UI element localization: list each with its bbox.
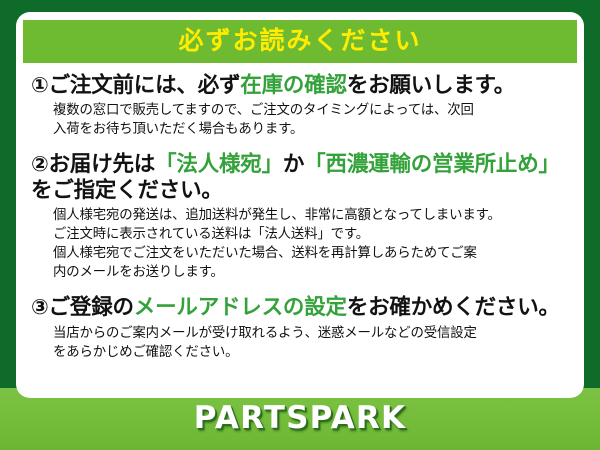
- notice-item-1-heading: ①ご注文前には、必ず在庫の確認をお願いします。: [22, 73, 578, 98]
- page-title: 必ずお読みください: [178, 28, 421, 55]
- notice-item-1-heading-part-1: ご注文前には、必ず: [49, 73, 241, 98]
- notice-item-2-body-line-1: 個人様宅宛の発送は、追加送料が発生し、非常に高額となってしまいます。: [53, 206, 578, 225]
- notice-item-1-body-line-1: 複数の窓口で販売してますので、ご注文のタイミングによっては、次回: [53, 101, 578, 120]
- notice-item-3-heading-part-1: ご登録の: [49, 295, 134, 320]
- notice-item-2-body: 個人様宅宛の発送は、追加送料が発生し、非常に高額となってしまいます。 ご注文時に…: [22, 206, 578, 282]
- title-banner: 必ずお読みください: [23, 20, 577, 63]
- notice-item-3-body: 当店からのご案内メールが受け取れるよう、迷惑メールなどの受信設定 をあらかじめご…: [22, 324, 578, 362]
- notice-item-2-heading-highlight-1: 「法人様宛」: [155, 152, 283, 177]
- notice-item-2-heading-highlight-2: 「西濃運輸の営業所止め」: [304, 152, 560, 177]
- notice-item-3-heading-part-3: をお確かめください。: [347, 295, 560, 320]
- notice-item-3-marker: ③: [31, 295, 49, 319]
- notice-item-3-body-line-2: をあらかじめご確認ください。: [53, 343, 578, 362]
- notice-item-2-heading-part-3: か: [283, 152, 304, 177]
- notice-item-1-heading-highlight: 在庫の確認: [240, 73, 347, 98]
- notice-item-3-body-line-1: 当店からのご案内メールが受け取れるよう、迷惑メールなどの受信設定: [53, 324, 578, 343]
- notice-item-1-body-line-2: 入荷をお待ち頂いただく場合もあります。: [53, 120, 578, 139]
- notice-item-1-marker: ①: [31, 73, 49, 97]
- notice-frame: PARTSPARK 必ずお読みください ①ご注文前には、必ず在庫の確認をお願いし…: [0, 0, 600, 450]
- notice-item-2-heading: ②お届け先は「法人様宛」か「西濃運輸の営業所止め」: [22, 152, 578, 177]
- notice-item-1-body: 複数の窓口で販売してますので、ご注文のタイミングによっては、次回 入荷をお待ち頂…: [22, 101, 578, 139]
- notice-item-2-body-line-4: 内のメールをお送りします。: [53, 263, 578, 282]
- brand-logo: PARTSPARK: [194, 400, 406, 438]
- notice-item-2-body-line-2: ご注文時に表示されている送料は「法人送料」です。: [53, 225, 578, 244]
- notice-item-1-heading-part-3: をお願いします。: [347, 73, 515, 98]
- notice-item-3-heading: ③ご登録のメールアドレスの設定をお確かめください。: [22, 295, 578, 320]
- notice-item-2-body-line-3: 個人様宅宛でご注文をいただいた場合、送料を再計算しあらためてご案: [53, 244, 578, 263]
- notice-item-3: ③ご登録のメールアドレスの設定をお確かめください。 当店からのご案内メールが受け…: [22, 295, 578, 361]
- notice-item-2: ②お届け先は「法人様宛」か「西濃運輸の営業所止め」 をご指定ください。 個人様宅…: [22, 152, 578, 282]
- notice-item-2-heading-part-1: お届け先は: [49, 152, 156, 177]
- notice-panel: 必ずお読みください ①ご注文前には、必ず在庫の確認をお願いします。 複数の窓口で…: [16, 12, 584, 398]
- notice-item-list: ①ご注文前には、必ず在庫の確認をお願いします。 複数の窓口で販売してますので、ご…: [22, 73, 578, 362]
- notice-item-3-heading-highlight: メールアドレスの設定: [134, 295, 347, 320]
- notice-item-2-heading-line-2: をご指定ください。: [22, 178, 578, 203]
- notice-item-2-marker: ②: [31, 152, 49, 176]
- notice-item-1: ①ご注文前には、必ず在庫の確認をお願いします。 複数の窓口で販売してますので、ご…: [22, 73, 578, 139]
